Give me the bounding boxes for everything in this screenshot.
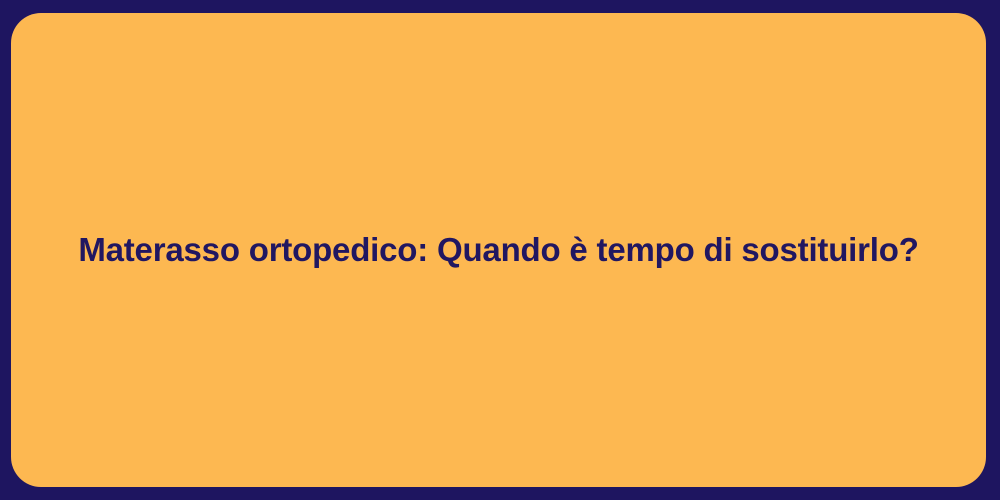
banner-title: Materasso ortopedico: Quando è tempo di … (78, 229, 918, 271)
banner-card: Materasso ortopedico: Quando è tempo di … (11, 13, 986, 487)
banner-outer-frame: Materasso ortopedico: Quando è tempo di … (0, 0, 1000, 500)
